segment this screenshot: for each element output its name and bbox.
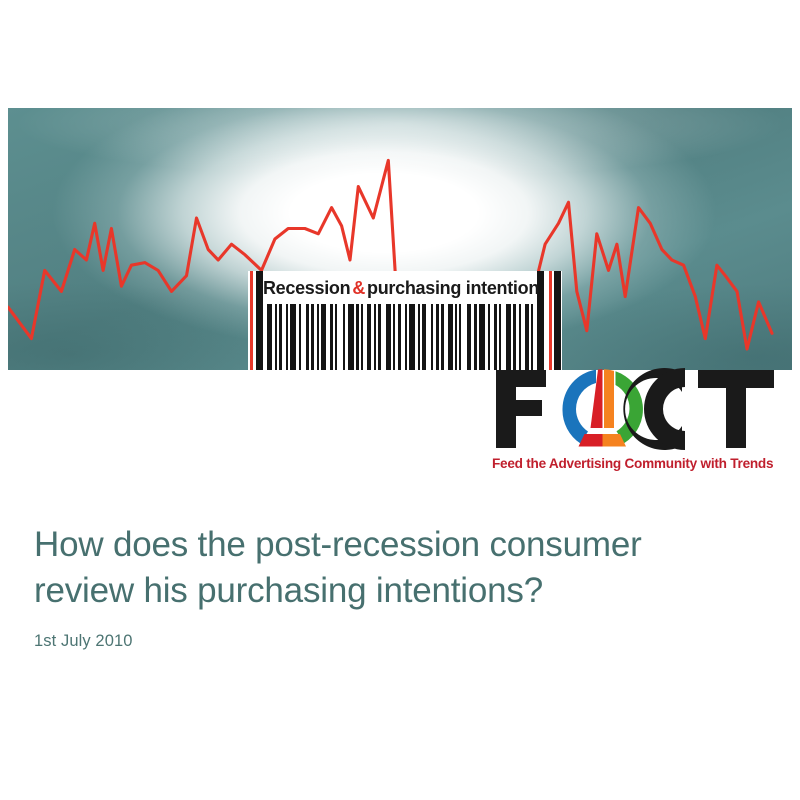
fact-tagline: Feed the Advertising Community with Tren…	[492, 456, 792, 471]
barcode-bar	[330, 304, 333, 370]
logo-letter-a-circle	[562, 369, 642, 446]
barcode-bar	[409, 304, 415, 370]
barcode-bar	[525, 304, 529, 370]
barcode-bar	[286, 304, 288, 370]
barcode-bar	[431, 304, 433, 370]
barcode-bar	[321, 304, 326, 370]
barcode-guard-bar-right-outer	[554, 271, 561, 370]
chart-line-right	[528, 202, 772, 349]
barcode-bar	[386, 304, 391, 370]
barcode-bar	[367, 304, 371, 370]
logo-letter-t	[698, 370, 774, 448]
barcode-bar	[422, 304, 426, 370]
barcode-bars	[267, 304, 535, 370]
barcode-bar	[343, 304, 345, 370]
barcode-guard-bar-left	[256, 271, 263, 370]
fact-logo: Feed the Advertising Community with Tren…	[492, 368, 792, 480]
logo-letter-f	[496, 370, 546, 448]
barcode-bar	[317, 304, 319, 370]
barcode-bar	[378, 304, 381, 370]
barcode-bar	[506, 304, 511, 370]
barcode-bar	[436, 304, 439, 370]
barcode-bar	[479, 304, 485, 370]
title-block: How does the post-recession consumer rev…	[34, 522, 764, 651]
barcode-caption-ampersand: &	[350, 278, 367, 299]
barcode-bar	[405, 304, 407, 370]
title-banner-image: Recession & purchasing intention	[8, 108, 792, 370]
barcode-caption: Recession & purchasing intention	[267, 273, 535, 303]
barcode-graphic: Recession & purchasing intention	[248, 271, 562, 370]
barcode-bar	[513, 304, 516, 370]
barcode-bar	[361, 304, 363, 370]
barcode-bar	[519, 304, 521, 370]
barcode-bar	[474, 304, 477, 370]
barcode-bar	[398, 304, 401, 370]
barcode-bar	[306, 304, 309, 370]
barcode-bar	[290, 304, 296, 370]
barcode-bar	[275, 304, 277, 370]
barcode-bar	[441, 304, 444, 370]
slide-title: How does the post-recession consumer rev…	[34, 522, 764, 614]
presentation-slide: Recession & purchasing intention	[0, 0, 800, 800]
logo-segment-blue	[562, 370, 596, 444]
barcode-bar	[374, 304, 376, 370]
barcode-bar	[488, 304, 490, 370]
barcode-bar	[335, 304, 337, 370]
barcode-bar	[499, 304, 501, 370]
barcode-bar	[267, 304, 272, 370]
barcode-red-edge-left	[250, 271, 253, 370]
barcode-bar	[299, 304, 301, 370]
fact-wordmark	[492, 368, 792, 450]
barcode-bar	[348, 304, 354, 370]
slide-date: 1st July 2010	[34, 632, 764, 651]
barcode-bar	[459, 304, 461, 370]
barcode-bar	[393, 304, 395, 370]
barcode-bar	[467, 304, 471, 370]
barcode-bar	[418, 304, 420, 370]
barcode-caption-prefix: Recession	[263, 278, 350, 299]
barcode-bar	[448, 304, 453, 370]
barcode-red-edge-right	[549, 271, 552, 370]
barcode-bar	[494, 304, 497, 370]
barcode-bar	[455, 304, 457, 370]
barcode-bar	[531, 304, 533, 370]
barcode-bar	[311, 304, 314, 370]
barcode-bar	[279, 304, 282, 370]
barcode-bar	[356, 304, 359, 370]
barcode-caption-suffix: purchasing intention	[367, 278, 539, 299]
